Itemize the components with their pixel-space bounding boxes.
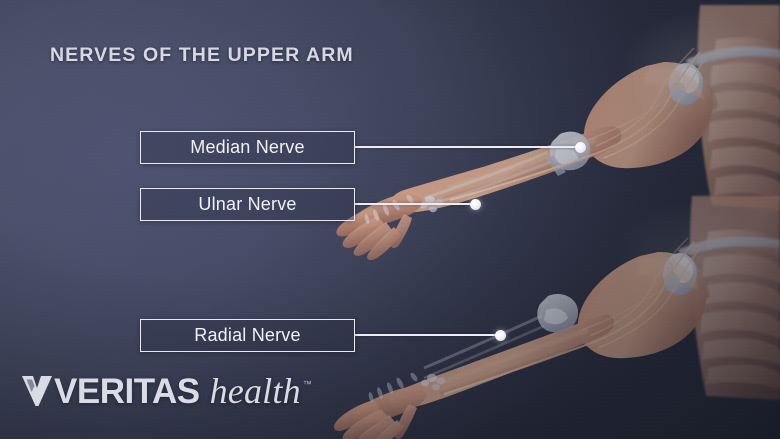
logo-trademark: ™	[303, 379, 312, 389]
leader-dot-radial	[495, 330, 506, 341]
veritas-v-checkmark-icon	[22, 374, 52, 407]
leader-line-radial	[355, 334, 501, 336]
callout-label-ulnar-nerve[interactable]: Ulnar Nerve	[140, 188, 355, 221]
callout-label-radial-nerve-text: Radial Nerve	[194, 325, 300, 346]
leader-dot-median	[575, 142, 586, 153]
logo-primary-text: VERITAS	[54, 372, 200, 412]
callout-label-ulnar-nerve-text: Ulnar Nerve	[198, 194, 296, 215]
logo-secondary-text: health	[210, 370, 301, 412]
veritas-health-logo[interactable]: VERITAS health ™	[22, 370, 312, 412]
leader-line-median	[355, 146, 581, 148]
leader-dot-ulnar	[470, 199, 481, 210]
illustration-canvas: NERVES OF THE UPPER ARM Median Nerve Uln…	[0, 0, 780, 439]
page-title: NERVES OF THE UPPER ARM	[50, 44, 354, 67]
callout-label-median-nerve-text: Median Nerve	[190, 137, 304, 158]
leader-line-ulnar	[355, 203, 476, 205]
callout-label-radial-nerve[interactable]: Radial Nerve	[140, 319, 355, 352]
callout-label-median-nerve[interactable]: Median Nerve	[140, 131, 355, 164]
